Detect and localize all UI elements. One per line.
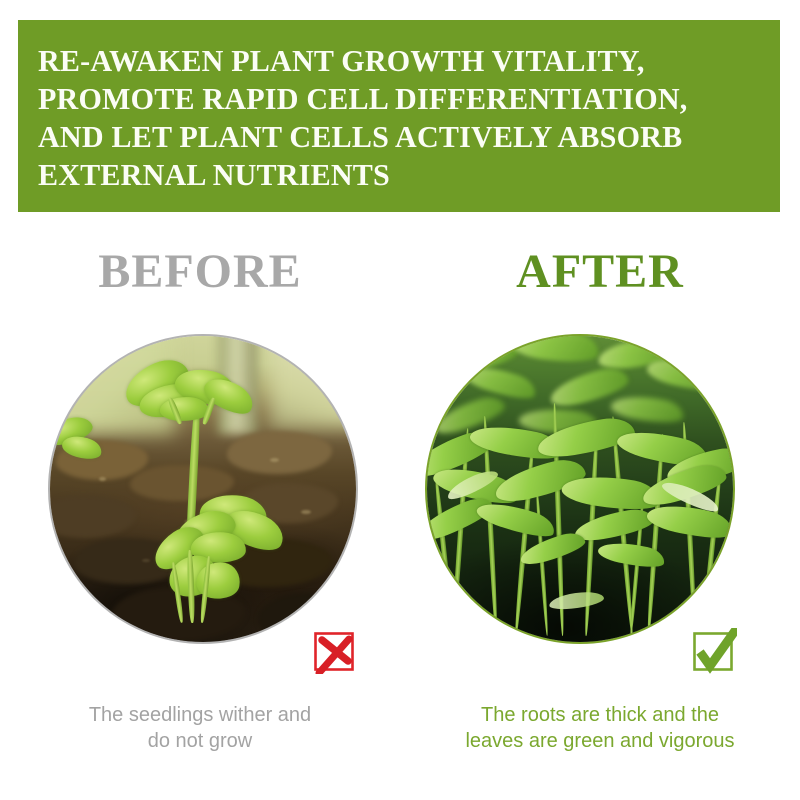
after-title: AFTER <box>400 244 800 300</box>
after-caption-line-1: The roots are thick and the <box>408 702 792 728</box>
after-panel: AFTER <box>400 236 800 776</box>
after-photo-circle <box>425 334 735 644</box>
headline-line-4: EXTERNAL NUTRIENTS <box>38 156 738 194</box>
before-title: BEFORE <box>0 244 400 300</box>
promo-page: RE-AWAKEN PLANT GROWTH VITALITY, PROMOTE… <box>0 0 800 800</box>
before-bokeh-right <box>270 336 356 428</box>
after-caption: The roots are thick and the leaves are g… <box>408 702 792 754</box>
before-panel: BEFORE <box>0 236 400 776</box>
soil-speck <box>99 477 106 481</box>
after-caption-line-2: leaves are green and vigorous <box>408 728 792 754</box>
cross-mark-icon <box>312 628 358 674</box>
headline-line-2: PROMOTE RAPID CELL DIFFERENTIATION, <box>38 80 738 118</box>
after-photo <box>427 336 733 642</box>
before-caption: The seedlings wither and do not grow <box>8 702 392 754</box>
headline-line-1: RE-AWAKEN PLANT GROWTH VITALITY, <box>38 42 738 80</box>
before-photo-circle <box>48 334 358 644</box>
after-mark <box>691 628 737 674</box>
before-mark <box>312 628 358 674</box>
before-photo <box>50 336 356 642</box>
check-mark-icon <box>691 628 737 674</box>
headline-banner: RE-AWAKEN PLANT GROWTH VITALITY, PROMOTE… <box>18 20 780 212</box>
headline-line-3: AND LET PLANT CELLS ACTIVELY ABSORB <box>38 118 738 156</box>
before-caption-line-1: The seedlings wither and <box>8 702 392 728</box>
before-after-comparison: BEFORE <box>0 236 800 776</box>
before-caption-line-2: do not grow <box>8 728 392 754</box>
